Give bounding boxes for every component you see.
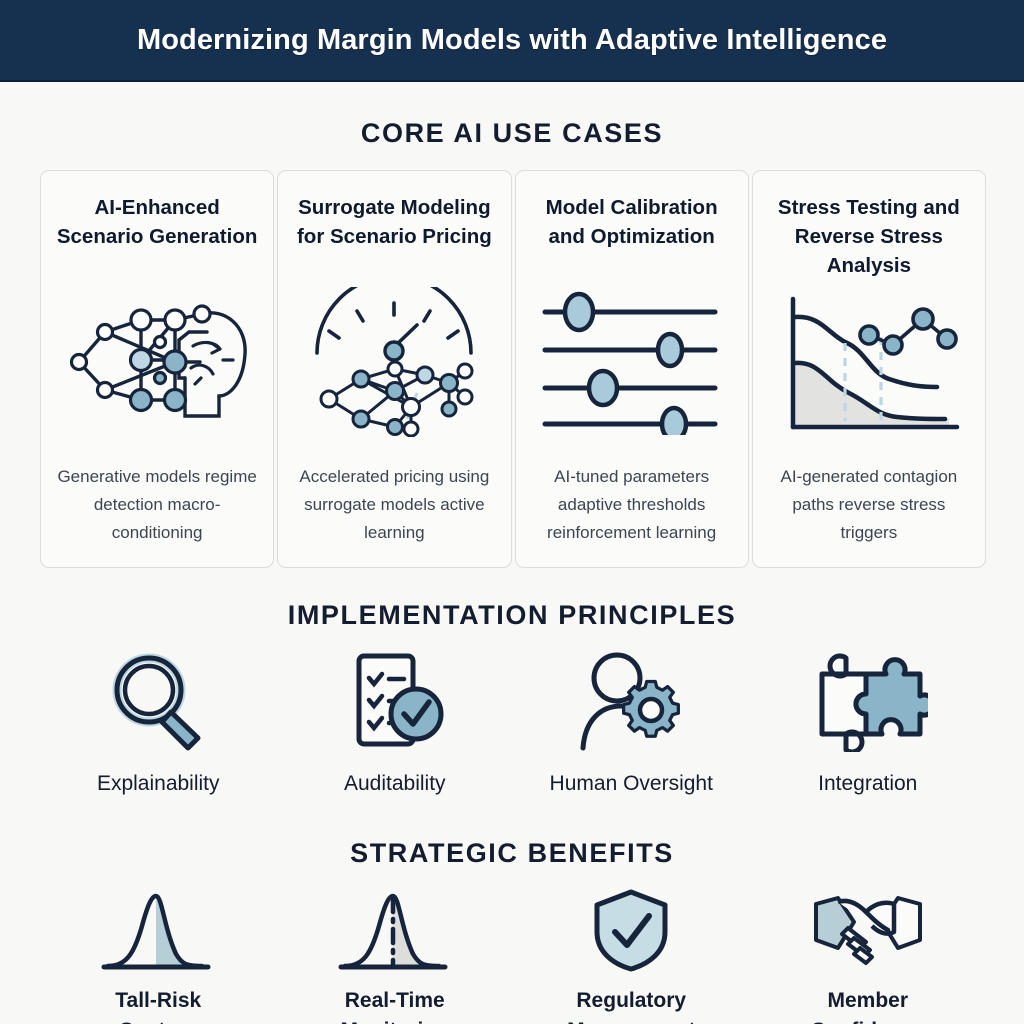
shield-check-icon	[585, 888, 677, 972]
principle-item[interactable]: Integration	[750, 646, 987, 796]
card-description: Accelerated pricing using surrogate mode…	[288, 463, 500, 551]
gauge-network-icon	[288, 287, 500, 437]
benefit-item[interactable]: Regulatory Management	[513, 888, 750, 1024]
declining-chart-icon	[763, 287, 975, 437]
card-title: Stress Testing and Reverse Stress Analys…	[763, 193, 975, 285]
header-banner: Modernizing Margin Models with Adaptive …	[0, 0, 1024, 82]
benefit-item[interactable]: Real-Time Monitoring	[277, 888, 514, 1024]
use-case-card-row: AI-Enhanced Scenario Generation	[40, 170, 986, 568]
principle-label: Auditability	[344, 772, 446, 796]
benefit-label-line1: Regulatory	[576, 989, 686, 1012]
section-heading-principles: IMPLEMENTATION PRINCIPLES	[0, 600, 1024, 631]
card-description: AI-generated contagion paths reverse str…	[763, 463, 975, 551]
section-heading-use-cases: CORE AI USE CASES	[0, 118, 1024, 149]
neural-network-head-icon	[51, 287, 263, 437]
benefit-label-line2: Monitoring	[341, 1019, 449, 1024]
magnifier-icon	[104, 646, 212, 758]
card-title: AI-Enhanced Scenario Generation	[51, 193, 263, 285]
bell-curve-tail-icon	[98, 888, 218, 972]
bell-curve-dashed-icon	[335, 888, 455, 972]
principle-label: Explainability	[97, 772, 220, 796]
benefit-item[interactable]: Member Confidence	[750, 888, 987, 1024]
infographic-page: Modernizing Margin Models with Adaptive …	[0, 0, 1024, 1024]
principles-row: Explainability Auditability	[40, 646, 986, 796]
page-title: Modernizing Margin Models with Adaptive …	[137, 24, 887, 57]
use-case-card[interactable]: Surrogate Modeling for Scenario Pricing	[277, 170, 511, 568]
puzzle-icon	[808, 646, 928, 758]
benefit-label: Regulatory Management	[567, 986, 695, 1024]
benefit-label: Tall-Risk Capture	[115, 986, 201, 1024]
benefit-label-line2: Capture	[119, 1019, 198, 1024]
use-case-card[interactable]: AI-Enhanced Scenario Generation	[40, 170, 274, 568]
principle-label: Integration	[818, 772, 917, 796]
card-title: Surrogate Modeling for Scenario Pricing	[288, 193, 500, 285]
benefit-label-line1: Member	[827, 989, 908, 1012]
card-description: Generative models regime detection macro…	[51, 463, 263, 551]
principle-item[interactable]: Human Oversight	[513, 646, 750, 796]
use-case-card[interactable]: Stress Testing and Reverse Stress Analys…	[752, 170, 986, 568]
benefit-label-line2: Management	[567, 1019, 695, 1024]
handshake-icon	[808, 888, 928, 972]
principle-item[interactable]: Auditability	[277, 646, 514, 796]
principle-item[interactable]: Explainability	[40, 646, 277, 796]
benefits-row: Tall-Risk Capture Real-Time Monitoring	[40, 888, 986, 1024]
checklist-check-icon	[341, 646, 449, 758]
benefit-label-line1: Real-Time	[345, 989, 445, 1012]
card-title: Model Calibration and Optimization	[526, 193, 738, 285]
benefit-label-line1: Tall-Risk	[115, 989, 201, 1012]
card-description: AI-tuned parameters adaptive thresholds …	[526, 463, 738, 551]
benefit-label: Real-Time Monitoring	[341, 986, 449, 1024]
benefit-label-line2: Confidence	[811, 1019, 925, 1024]
use-case-card[interactable]: Model Calibration and Optimization	[515, 170, 749, 568]
person-gear-icon	[575, 646, 687, 758]
benefit-item[interactable]: Tall-Risk Capture	[40, 888, 277, 1024]
principle-label: Human Oversight	[550, 772, 713, 796]
benefit-label: Member Confidence	[811, 986, 925, 1024]
sliders-icon	[526, 287, 738, 437]
section-heading-benefits: STRATEGIC BENEFITS	[0, 838, 1024, 869]
